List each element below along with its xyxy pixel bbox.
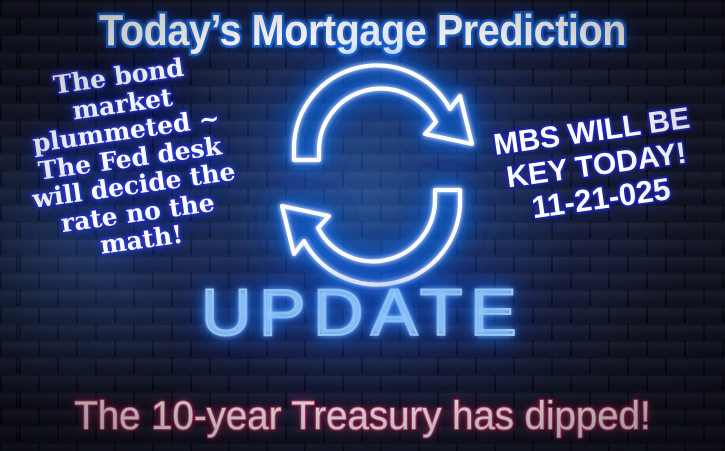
neon-update-text: UPDATE xyxy=(0,274,725,350)
page-title: Today’s Mortgage Prediction xyxy=(36,6,689,56)
left-commentary-note: The bond market plummeted ~ The Fed desk… xyxy=(2,47,259,270)
bottom-caption: The 10-year Treasury has dipped! xyxy=(15,394,711,439)
mortgage-update-poster: Today’s Mortgage Prediction UPDATE The b… xyxy=(0,0,725,451)
